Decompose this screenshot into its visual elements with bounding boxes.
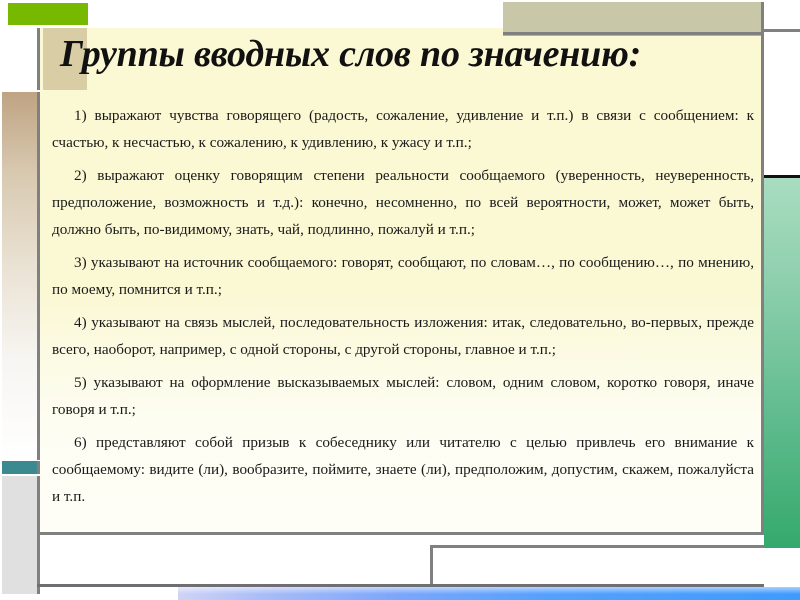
body-paragraph: 4) указывают на связь мыслей, последоват… (52, 309, 754, 363)
slide-title: Группы вводных слов по значению: (60, 31, 760, 77)
body-paragraph: 3) указывают на источник сообщаемого: го… (52, 249, 754, 303)
decor-teal-block (2, 461, 40, 474)
body-paragraph: 1) выражают чувства говорящего (радость,… (52, 102, 754, 156)
body-paragraph: 5) указывают на оформление высказываемых… (52, 369, 754, 423)
decor-green-chip (8, 3, 88, 25)
body-paragraph: 6) представляют собой призыв к собеседни… (52, 429, 754, 510)
decor-bottom-horizontal-rule (430, 545, 764, 548)
body-paragraph: 2) выражают оценку говорящим степени реа… (52, 162, 754, 243)
slide-body: 1) выражают чувства говорящего (радость,… (52, 102, 754, 510)
decor-bottom-vertical-rule (430, 545, 433, 587)
decor-green-side-bar (764, 175, 800, 548)
decor-top-right-rule (764, 29, 800, 32)
decor-left-gradient-rail (2, 92, 40, 460)
decor-white-chip (2, 28, 40, 90)
decor-grey-rail (2, 476, 40, 594)
presentation-slide: Группы вводных слов по значению: 1) выра… (0, 0, 800, 600)
decor-blue-strip-highlight (178, 587, 800, 600)
